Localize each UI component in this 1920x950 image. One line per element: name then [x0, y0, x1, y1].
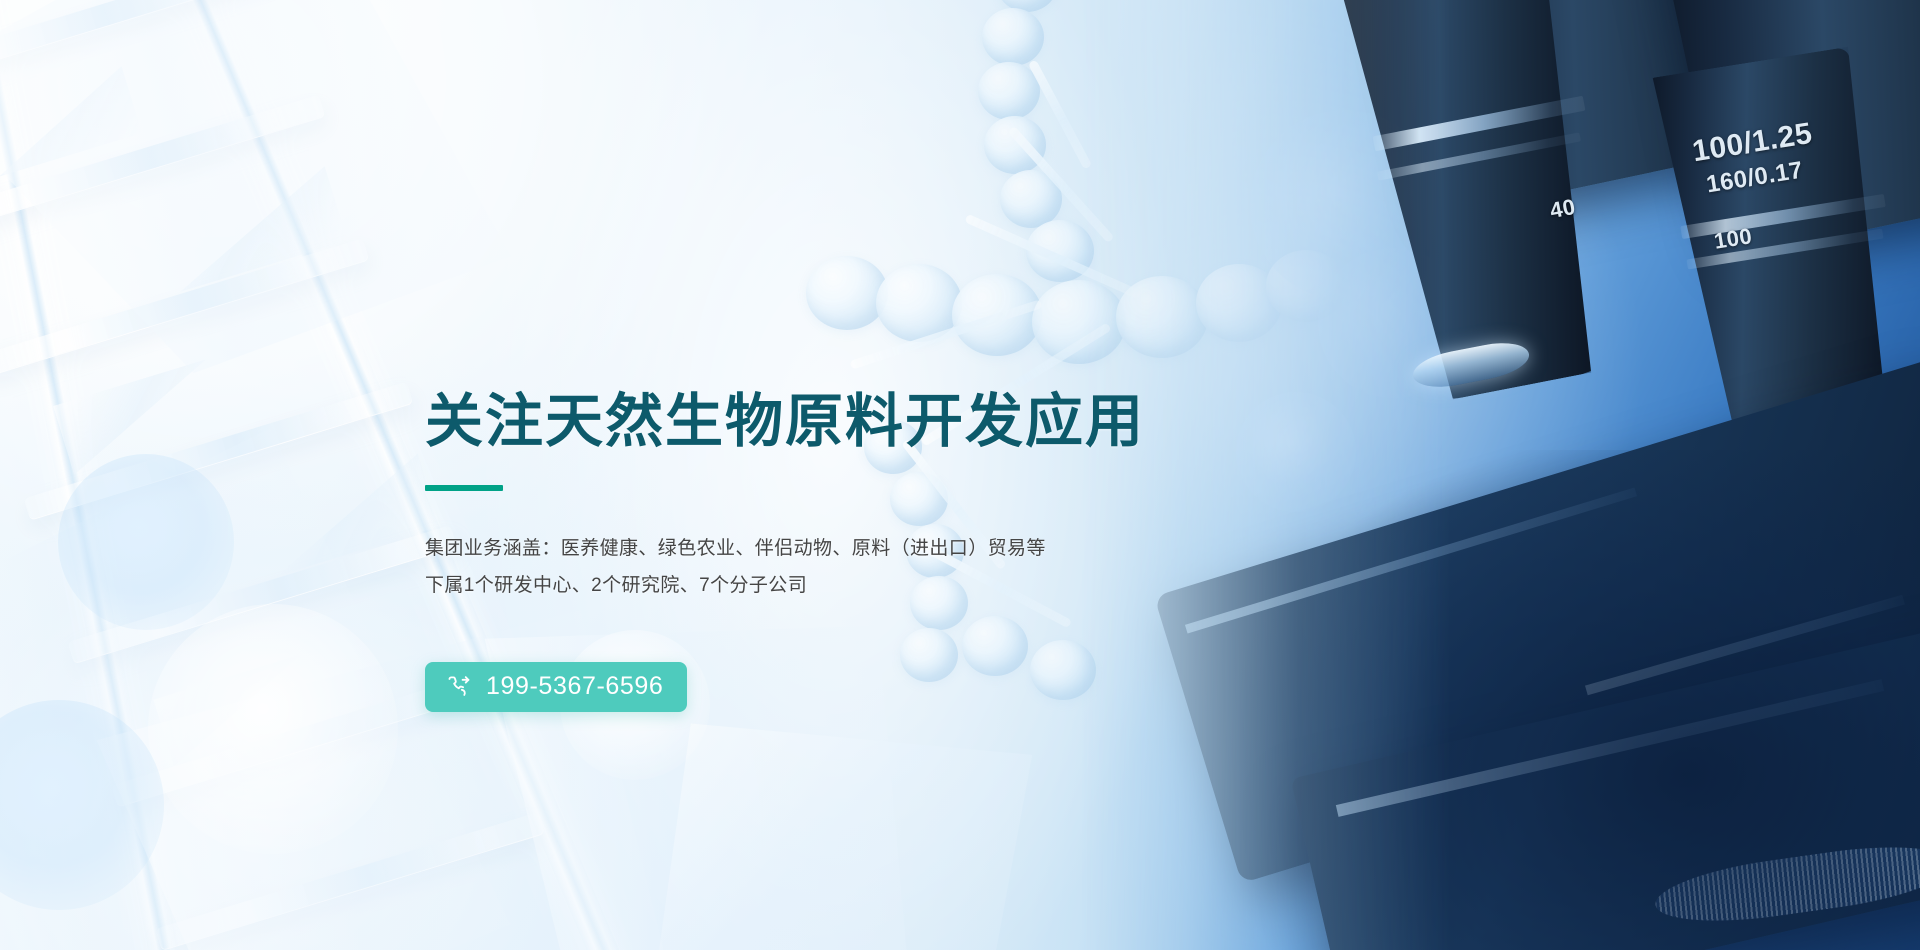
page-title: 关注天然生物原料开发应用: [425, 392, 1245, 453]
bokeh-circle: [148, 604, 398, 854]
hero-description: 集团业务涵盖：医养健康、绿色农业、伴侣动物、原料（进出口）贸易等 下属1个研发中…: [425, 530, 1245, 604]
phone-forward-icon: [446, 674, 472, 700]
hero-banner: 40 100/1.25 160/0.17 100 关注天然生物原料开发应用 集团…: [0, 0, 1920, 950]
hero-description-line-2: 下属1个研发中心、2个研究院、7个分子公司: [425, 567, 1245, 604]
phone-cta-button[interactable]: 199-5367-6596: [425, 662, 687, 712]
bokeh-circle: [58, 454, 234, 630]
phone-number-label: 199-5367-6596: [486, 674, 663, 699]
microscope-label-40: 40: [1548, 194, 1578, 224]
title-accent-bar: [425, 485, 503, 491]
hero-description-line-1: 集团业务涵盖：医养健康、绿色农业、伴侣动物、原料（进出口）贸易等: [425, 530, 1245, 567]
hero-content: 关注天然生物原料开发应用 集团业务涵盖：医养健康、绿色农业、伴侣动物、原料（进出…: [425, 392, 1245, 712]
